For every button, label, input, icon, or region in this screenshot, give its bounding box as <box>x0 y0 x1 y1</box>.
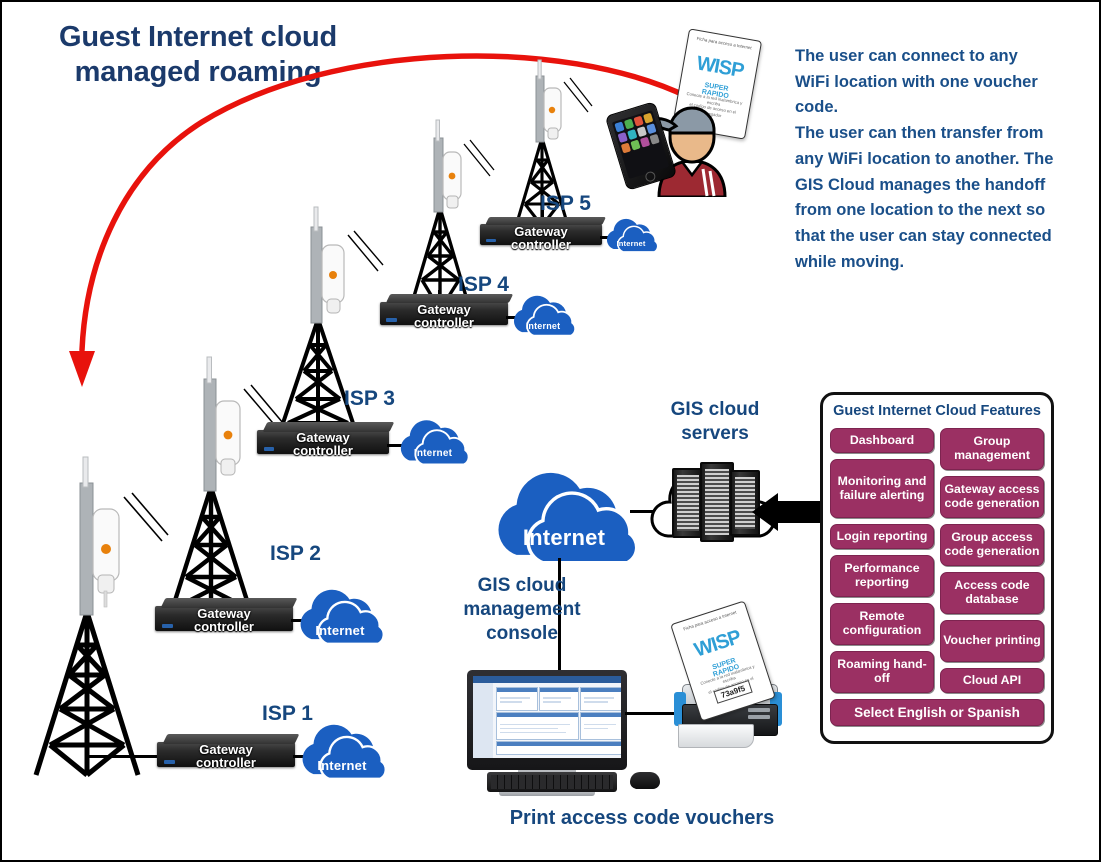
radio-tower-icon <box>152 357 270 632</box>
internet-cloud-3: Internet <box>394 414 472 467</box>
voucher-header: Ficha para acceso a Internet <box>694 35 754 50</box>
feature-code-database[interactable]: Access code database <box>940 572 1044 614</box>
internet-cloud-label: Internet <box>484 525 644 551</box>
voucher-brand: WISP <box>695 53 745 81</box>
internet-cloud-label: Internet <box>508 321 578 331</box>
feature-language-select[interactable]: Select English or Spanish <box>830 699 1044 726</box>
feature-gateway-codes[interactable]: Gateway access code generation <box>940 476 1044 518</box>
gateway-label: Gateway controller <box>257 431 389 458</box>
monitor-to-printer-link <box>625 712 681 715</box>
feature-dashboard[interactable]: Dashboard <box>830 428 934 453</box>
isp-label: ISP 5 <box>540 192 591 216</box>
internet-cloud-1: Internet <box>294 717 390 782</box>
internet-cloud-label: Internet <box>602 239 660 248</box>
gis-console-label: GIS cloud management console <box>442 574 602 645</box>
feature-group-codes[interactable]: Group access code generation <box>940 524 1044 566</box>
description-text: The user can connect to any WiFi locatio… <box>795 44 1057 276</box>
gateway-controller-3[interactable]: Gateway controller <box>257 430 389 454</box>
gateway-label: Gateway controller <box>380 303 508 330</box>
internet-cloud-label: Internet <box>294 758 390 773</box>
radio-tower-icon <box>22 457 152 777</box>
gateway-label: Gateway controller <box>157 743 295 770</box>
mouse-icon <box>630 772 660 789</box>
desktop-monitor-icon <box>467 670 627 770</box>
internet-cloud-label: Internet <box>394 448 472 459</box>
gateway-controller-5[interactable]: Gateway controller <box>480 224 602 245</box>
tower-to-gateway-link <box>85 755 163 758</box>
isp-label: ISP 3 <box>344 387 395 411</box>
feature-roaming-handoff[interactable]: Roaming hand-off <box>830 651 934 693</box>
features-right-column: Group management Gateway access code gen… <box>937 428 1044 693</box>
keyboard-icon <box>487 772 617 792</box>
print-vouchers-label: Print access code vouchers <box>482 807 802 830</box>
internet-cloud-central: Internet <box>484 460 644 568</box>
feature-login-reporting[interactable]: Login reporting <box>830 524 934 549</box>
gateway-controller-4[interactable]: Gateway controller <box>380 302 508 325</box>
feature-remote-config[interactable]: Remote configuration <box>830 603 934 645</box>
features-footer: Select English or Spanish <box>830 693 1044 726</box>
gis-cloud-servers-label: GIS cloud servers <box>650 398 780 446</box>
internet-cloud-2: Internet <box>292 582 388 647</box>
gateway-controller-2[interactable]: Gateway controller <box>155 606 293 631</box>
gateway-label: Gateway controller <box>155 607 293 634</box>
internet-cloud-5: Internet <box>602 214 660 254</box>
features-grid: Dashboard Monitoring and failure alertin… <box>830 428 1044 734</box>
features-panel: Guest Internet Cloud Features Dashboard … <box>820 392 1054 744</box>
voucher-brand: WISP <box>692 627 743 661</box>
internet-cloud-label: Internet <box>292 623 388 638</box>
feature-group-management[interactable]: Group management <box>940 428 1044 470</box>
gateway-controller-1[interactable]: Gateway controller <box>157 742 295 767</box>
features-left-column: Dashboard Monitoring and failure alertin… <box>830 428 937 693</box>
handoff-arrow-icon <box>750 492 826 534</box>
internet-cloud-4: Internet <box>508 290 578 338</box>
feature-performance[interactable]: Performance reporting <box>830 555 934 597</box>
gateway-label: Gateway controller <box>480 225 602 252</box>
monitor-screen <box>473 676 621 758</box>
isp-label: ISP 2 <box>270 542 321 566</box>
feature-voucher-printing[interactable]: Voucher printing <box>940 620 1044 662</box>
feature-monitoring[interactable]: Monitoring and failure alerting <box>830 459 934 518</box>
page-title: Guest Internet cloud managed roaming <box>48 20 348 91</box>
server-rack-icon <box>700 462 734 542</box>
diagram-canvas: Guest Internet cloud managed roaming The… <box>0 0 1101 862</box>
feature-cloud-api[interactable]: Cloud API <box>940 668 1044 693</box>
features-panel-title: Guest Internet Cloud Features <box>823 403 1051 419</box>
